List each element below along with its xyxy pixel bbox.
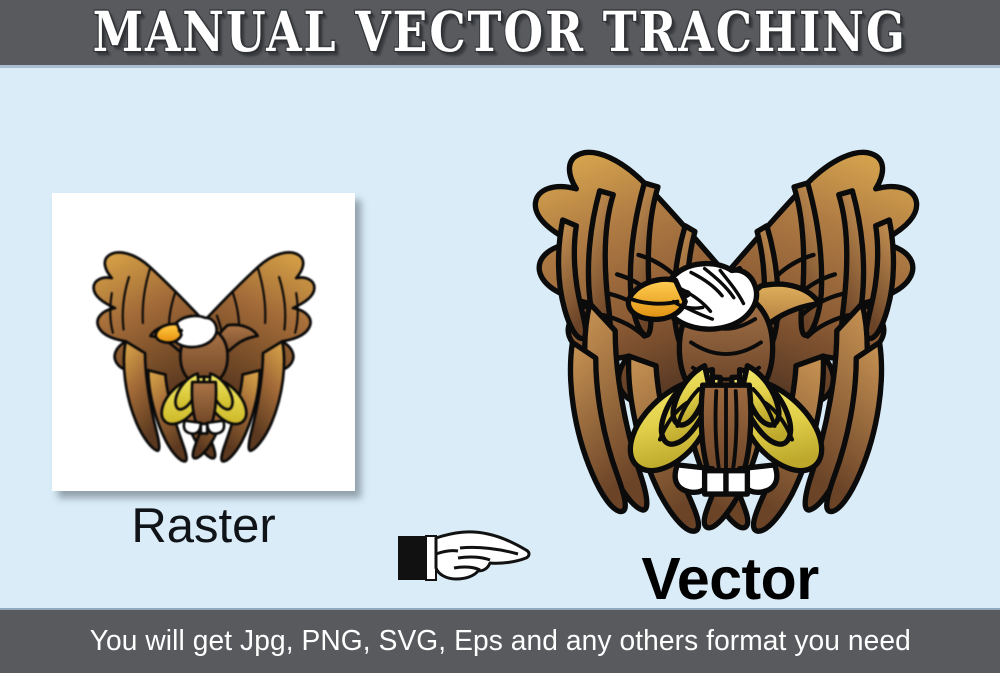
header-bar: MANUAL VECTOR TRACHING (0, 0, 1000, 68)
footer-bar: You will get Jpg, PNG, SVG, Eps and any … (0, 608, 1000, 673)
raster-label: Raster (52, 498, 355, 554)
poster-canvas: MANUAL VECTOR TRACHING (0, 0, 1000, 673)
eagle-mascot-icon (70, 210, 338, 478)
page-title: MANUAL VECTOR TRACHING (93, 5, 907, 60)
vector-eagle-artwork (483, 92, 969, 552)
eagle-mascot-icon (483, 92, 969, 552)
raster-sample-card (52, 193, 355, 491)
vector-label: Vector (560, 545, 900, 613)
raster-eagle-artwork (52, 193, 355, 491)
formats-note: You will get Jpg, PNG, SVG, Eps and any … (89, 625, 910, 658)
